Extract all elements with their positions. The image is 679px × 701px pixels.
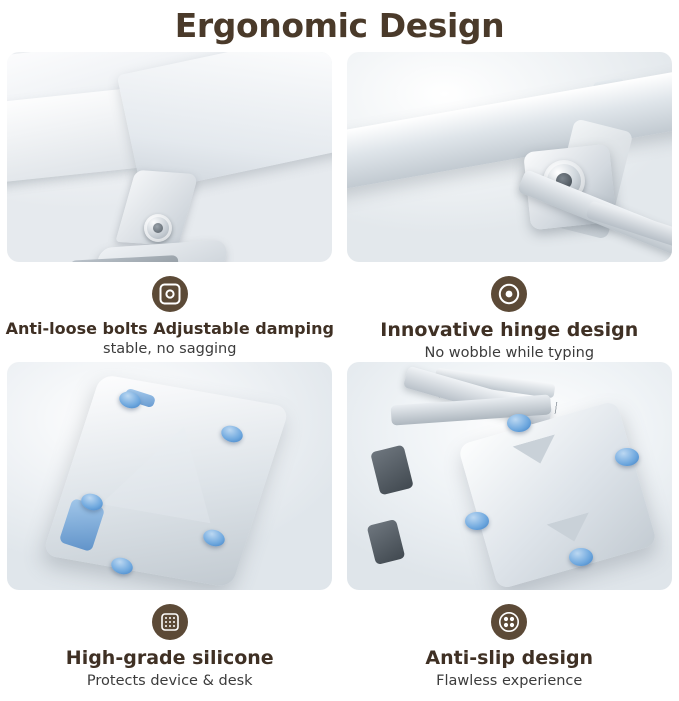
- anti-slip-pad: [465, 512, 489, 530]
- feature-photo-innovative-hinge: [347, 52, 672, 262]
- feature-subheading: Protects device & desk: [87, 673, 253, 690]
- anti-slip-pad: [569, 548, 593, 566]
- feature-heading: Anti-slip design: [425, 648, 593, 670]
- feature-card-innovative-hinge: Innovative hinge design No wobble while …: [340, 52, 679, 362]
- rubber-clip-upper: [370, 445, 414, 496]
- feature-subheading: stable, no sagging: [103, 341, 236, 358]
- silicone-texture-icon: [152, 604, 188, 640]
- stand-base-plate-shape: [457, 400, 657, 590]
- feature-card-anti-slip-design: Anti-slip design Flawless experience: [340, 362, 679, 690]
- rubber-clip-lower: [366, 519, 405, 565]
- feature-card-high-grade-silicone: High-grade silicone Protects device & de…: [0, 362, 340, 690]
- feature-card-anti-loose-bolts: Anti-loose bolts Adjustable damping stab…: [0, 52, 340, 362]
- feature-subheading: Flawless experience: [436, 673, 582, 690]
- feature-heading: Anti-loose bolts Adjustable damping: [6, 320, 334, 338]
- feature-subheading: No wobble while typing: [424, 345, 594, 362]
- anti-slip-pad: [615, 448, 639, 466]
- feature-photo-anti-loose-bolts: [7, 52, 332, 262]
- feature-heading: High-grade silicone: [66, 648, 274, 670]
- four-dots-icon: [491, 604, 527, 640]
- anti-slip-pad: [507, 414, 531, 432]
- feature-photo-anti-slip-design: [347, 362, 672, 590]
- feature-grid: Anti-loose bolts Adjustable damping stab…: [0, 52, 679, 690]
- target-ring-icon: [152, 276, 188, 312]
- target-dot-icon: [491, 276, 527, 312]
- product-feature-page: Ergonomic Design Anti-loose bolts Adjust…: [0, 0, 679, 701]
- feature-photo-high-grade-silicone: [7, 362, 332, 590]
- feature-heading: Innovative hinge design: [380, 320, 638, 342]
- page-title: Ergonomic Design: [0, 0, 679, 45]
